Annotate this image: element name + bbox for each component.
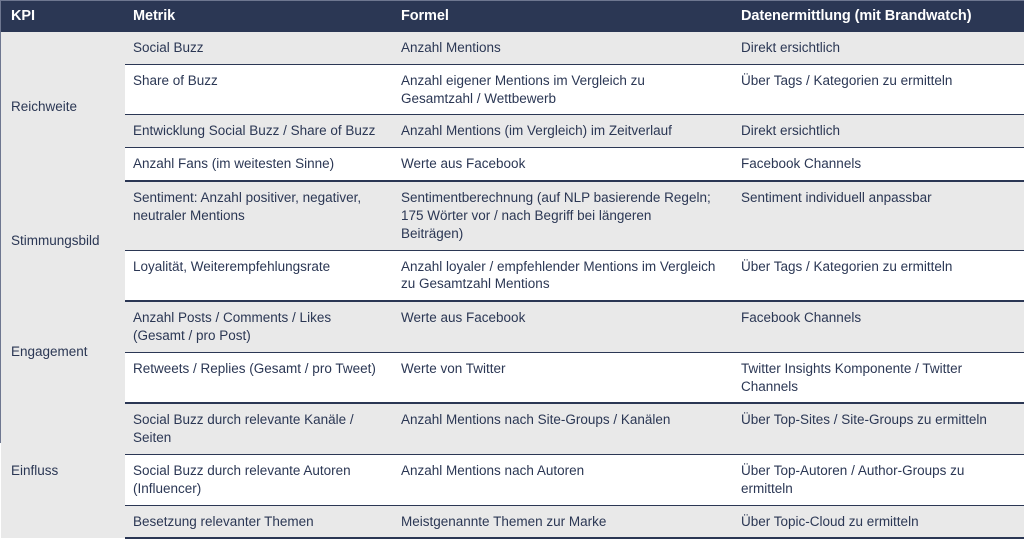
cell-metrik: Besetzung relevanter Themen	[125, 505, 393, 538]
header-row: KPI Metrik Formel Datenermittlung (mit B…	[1, 1, 1024, 32]
table-row: Loyalität, WeiterempfehlungsrateAnzahl l…	[1, 250, 1024, 301]
table-body: ReichweiteSocial BuzzAnzahl MentionsDire…	[1, 32, 1024, 538]
kpi-group-label: Reichweite	[1, 32, 125, 181]
table-row: Entwicklung Social Buzz / Share of BuzzA…	[1, 115, 1024, 148]
cell-daten: Über Tags / Kategorien zu ermitteln	[728, 250, 1024, 301]
kpi-group-label: Engagement	[1, 301, 125, 403]
cell-daten: Facebook Channels	[728, 301, 1024, 352]
table-row: Besetzung relevanter ThemenMeistgenannte…	[1, 505, 1024, 538]
cell-metrik: Anzahl Posts / Comments / Likes (Gesamt …	[125, 301, 393, 352]
cell-formel: Werte aus Facebook	[393, 301, 728, 352]
cell-daten: Sentiment individuell anpassbar	[728, 181, 1024, 250]
cell-formel: Sentimentberechnung (auf NLP basierende …	[393, 181, 728, 250]
kpi-group-label: Stimmungsbild	[1, 181, 125, 301]
cell-formel: Anzahl loyaler / empfehlender Mentions i…	[393, 250, 728, 301]
cell-metrik: Social Buzz durch relevante Kanäle / Sei…	[125, 403, 393, 454]
column-header-formel: Formel	[393, 1, 728, 32]
cell-metrik: Social Buzz durch relevante Autoren (Inf…	[125, 455, 393, 506]
table-row: Social Buzz durch relevante Autoren (Inf…	[1, 455, 1024, 506]
cell-formel: Anzahl Mentions nach Autoren	[393, 455, 728, 506]
cell-daten: Über Top-Sites / Site-Groups zu ermittel…	[728, 403, 1024, 454]
cell-formel: Werte aus Facebook	[393, 148, 728, 181]
column-header-datenermittlung: Datenermittlung (mit Brandwatch)	[728, 1, 1024, 32]
cell-formel: Werte von Twitter	[393, 352, 728, 403]
table-row: Share of BuzzAnzahl eigener Mentions im …	[1, 64, 1024, 115]
cell-metrik: Sentiment: Anzahl positiver, negativer, …	[125, 181, 393, 250]
cell-daten: Über Topic-Cloud zu ermitteln	[728, 505, 1024, 538]
cell-metrik: Anzahl Fans (im weitesten Sinne)	[125, 148, 393, 181]
cell-formel: Anzahl Mentions nach Site-Groups / Kanäl…	[393, 403, 728, 454]
table-row: StimmungsbildSentiment: Anzahl positiver…	[1, 181, 1024, 250]
cell-metrik: Retweets / Replies (Gesamt / pro Tweet)	[125, 352, 393, 403]
cell-daten: Direkt ersichtlich	[728, 32, 1024, 64]
column-header-metrik: Metrik	[125, 1, 393, 32]
table-row: Anzahl Fans (im weitesten Sinne)Werte au…	[1, 148, 1024, 181]
cell-daten: Direkt ersichtlich	[728, 115, 1024, 148]
cell-metrik: Share of Buzz	[125, 64, 393, 115]
cell-daten: Facebook Channels	[728, 148, 1024, 181]
kpi-table-container: KPI Metrik Formel Datenermittlung (mit B…	[0, 0, 1024, 443]
kpi-table: KPI Metrik Formel Datenermittlung (mit B…	[1, 1, 1024, 539]
cell-formel: Meistgenannte Themen zur Marke	[393, 505, 728, 538]
table-header: KPI Metrik Formel Datenermittlung (mit B…	[1, 1, 1024, 32]
kpi-group-label: Einfluss	[1, 403, 125, 538]
cell-formel: Anzahl Mentions (im Vergleich) im Zeitve…	[393, 115, 728, 148]
cell-daten: Über Top-Autoren / Author-Groups zu ermi…	[728, 455, 1024, 506]
cell-formel: Anzahl eigener Mentions im Vergleich zu …	[393, 64, 728, 115]
table-row: EinflussSocial Buzz durch relevante Kanä…	[1, 403, 1024, 454]
cell-metrik: Entwicklung Social Buzz / Share of Buzz	[125, 115, 393, 148]
table-row: Retweets / Replies (Gesamt / pro Tweet)W…	[1, 352, 1024, 403]
table-row: EngagementAnzahl Posts / Comments / Like…	[1, 301, 1024, 352]
table-row: ReichweiteSocial BuzzAnzahl MentionsDire…	[1, 32, 1024, 64]
cell-daten: Über Tags / Kategorien zu ermitteln	[728, 64, 1024, 115]
column-header-kpi: KPI	[1, 1, 125, 32]
cell-metrik: Loyalität, Weiterempfehlungsrate	[125, 250, 393, 301]
cell-metrik: Social Buzz	[125, 32, 393, 64]
cell-daten: Twitter Insights Komponente / Twitter Ch…	[728, 352, 1024, 403]
cell-formel: Anzahl Mentions	[393, 32, 728, 64]
